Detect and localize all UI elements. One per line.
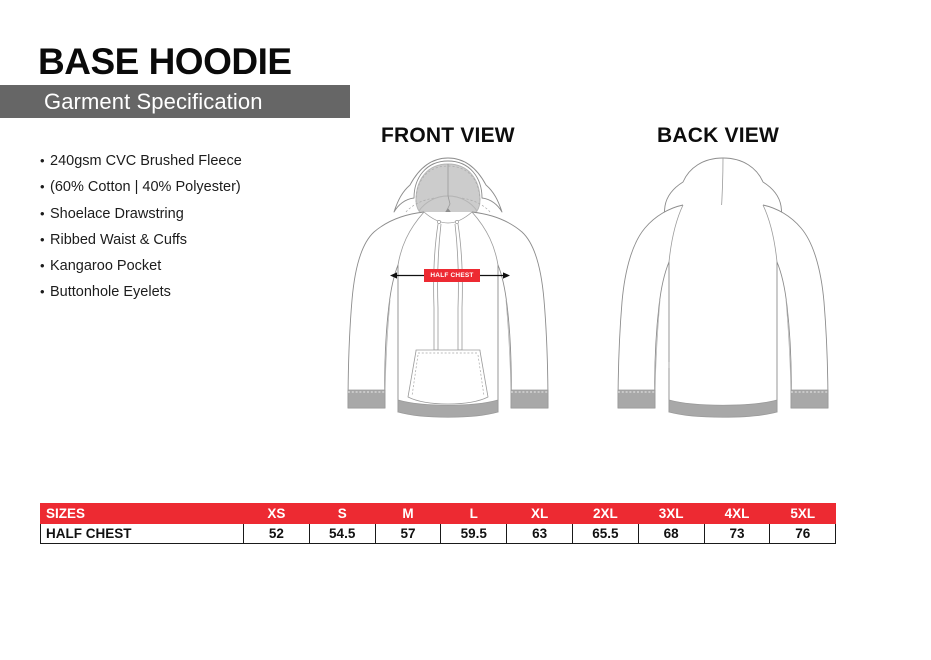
specification-list: 240gsm CVC Brushed Fleece (60% Cotton | … <box>40 148 340 306</box>
cell-half-chest: 63 <box>507 524 573 544</box>
spec-item: Shoelace Drawstring <box>40 201 340 227</box>
front-view-heading: FRONT VIEW <box>381 124 515 148</box>
half-chest-label: HALF CHEST <box>424 269 480 282</box>
half-chest-measurement-callout: HALF CHEST <box>390 269 510 283</box>
header-cell-size: M <box>375 504 441 524</box>
subtitle-label: Garment Specification <box>44 88 263 116</box>
spec-item: 240gsm CVC Brushed Fleece <box>40 148 340 174</box>
header-cell-size: 3XL <box>638 504 704 524</box>
cell-half-chest: 73 <box>704 524 770 544</box>
header-cell-size: S <box>309 504 375 524</box>
cell-half-chest: 68 <box>638 524 704 544</box>
table-row: HALF CHEST 52 54.5 57 59.5 63 65.5 68 73… <box>41 524 836 544</box>
cell-half-chest: 65.5 <box>572 524 638 544</box>
cell-half-chest: 59.5 <box>441 524 507 544</box>
header-cell-size: L <box>441 504 507 524</box>
header-cell-sizes: SIZES <box>41 504 244 524</box>
table-header-row: SIZES XS S M L XL 2XL 3XL 4XL 5XL <box>41 504 836 524</box>
cell-half-chest: 52 <box>244 524 310 544</box>
spec-item: Ribbed Waist & Cuffs <box>40 227 340 253</box>
back-view-hoodie-illustration <box>603 150 843 445</box>
row-label-half-chest: HALF CHEST <box>41 524 244 544</box>
header-cell-size: XS <box>244 504 310 524</box>
header-cell-size: XL <box>507 504 573 524</box>
header-cell-size: 4XL <box>704 504 770 524</box>
size-chart-table: SIZES XS S M L XL 2XL 3XL 4XL 5XL HALF C… <box>40 503 836 544</box>
spec-item: Kangaroo Pocket <box>40 253 340 279</box>
header-cell-size: 5XL <box>770 504 836 524</box>
header-cell-size: 2XL <box>572 504 638 524</box>
spec-item: Buttonhole Eyelets <box>40 279 340 305</box>
spec-item: (60% Cotton | 40% Polyester) <box>40 174 340 200</box>
cell-half-chest: 54.5 <box>309 524 375 544</box>
cell-half-chest: 57 <box>375 524 441 544</box>
front-view-hoodie-illustration <box>328 150 568 445</box>
page-title: BASE HOODIE <box>38 40 292 84</box>
back-view-heading: BACK VIEW <box>657 124 779 148</box>
cell-half-chest: 76 <box>770 524 836 544</box>
